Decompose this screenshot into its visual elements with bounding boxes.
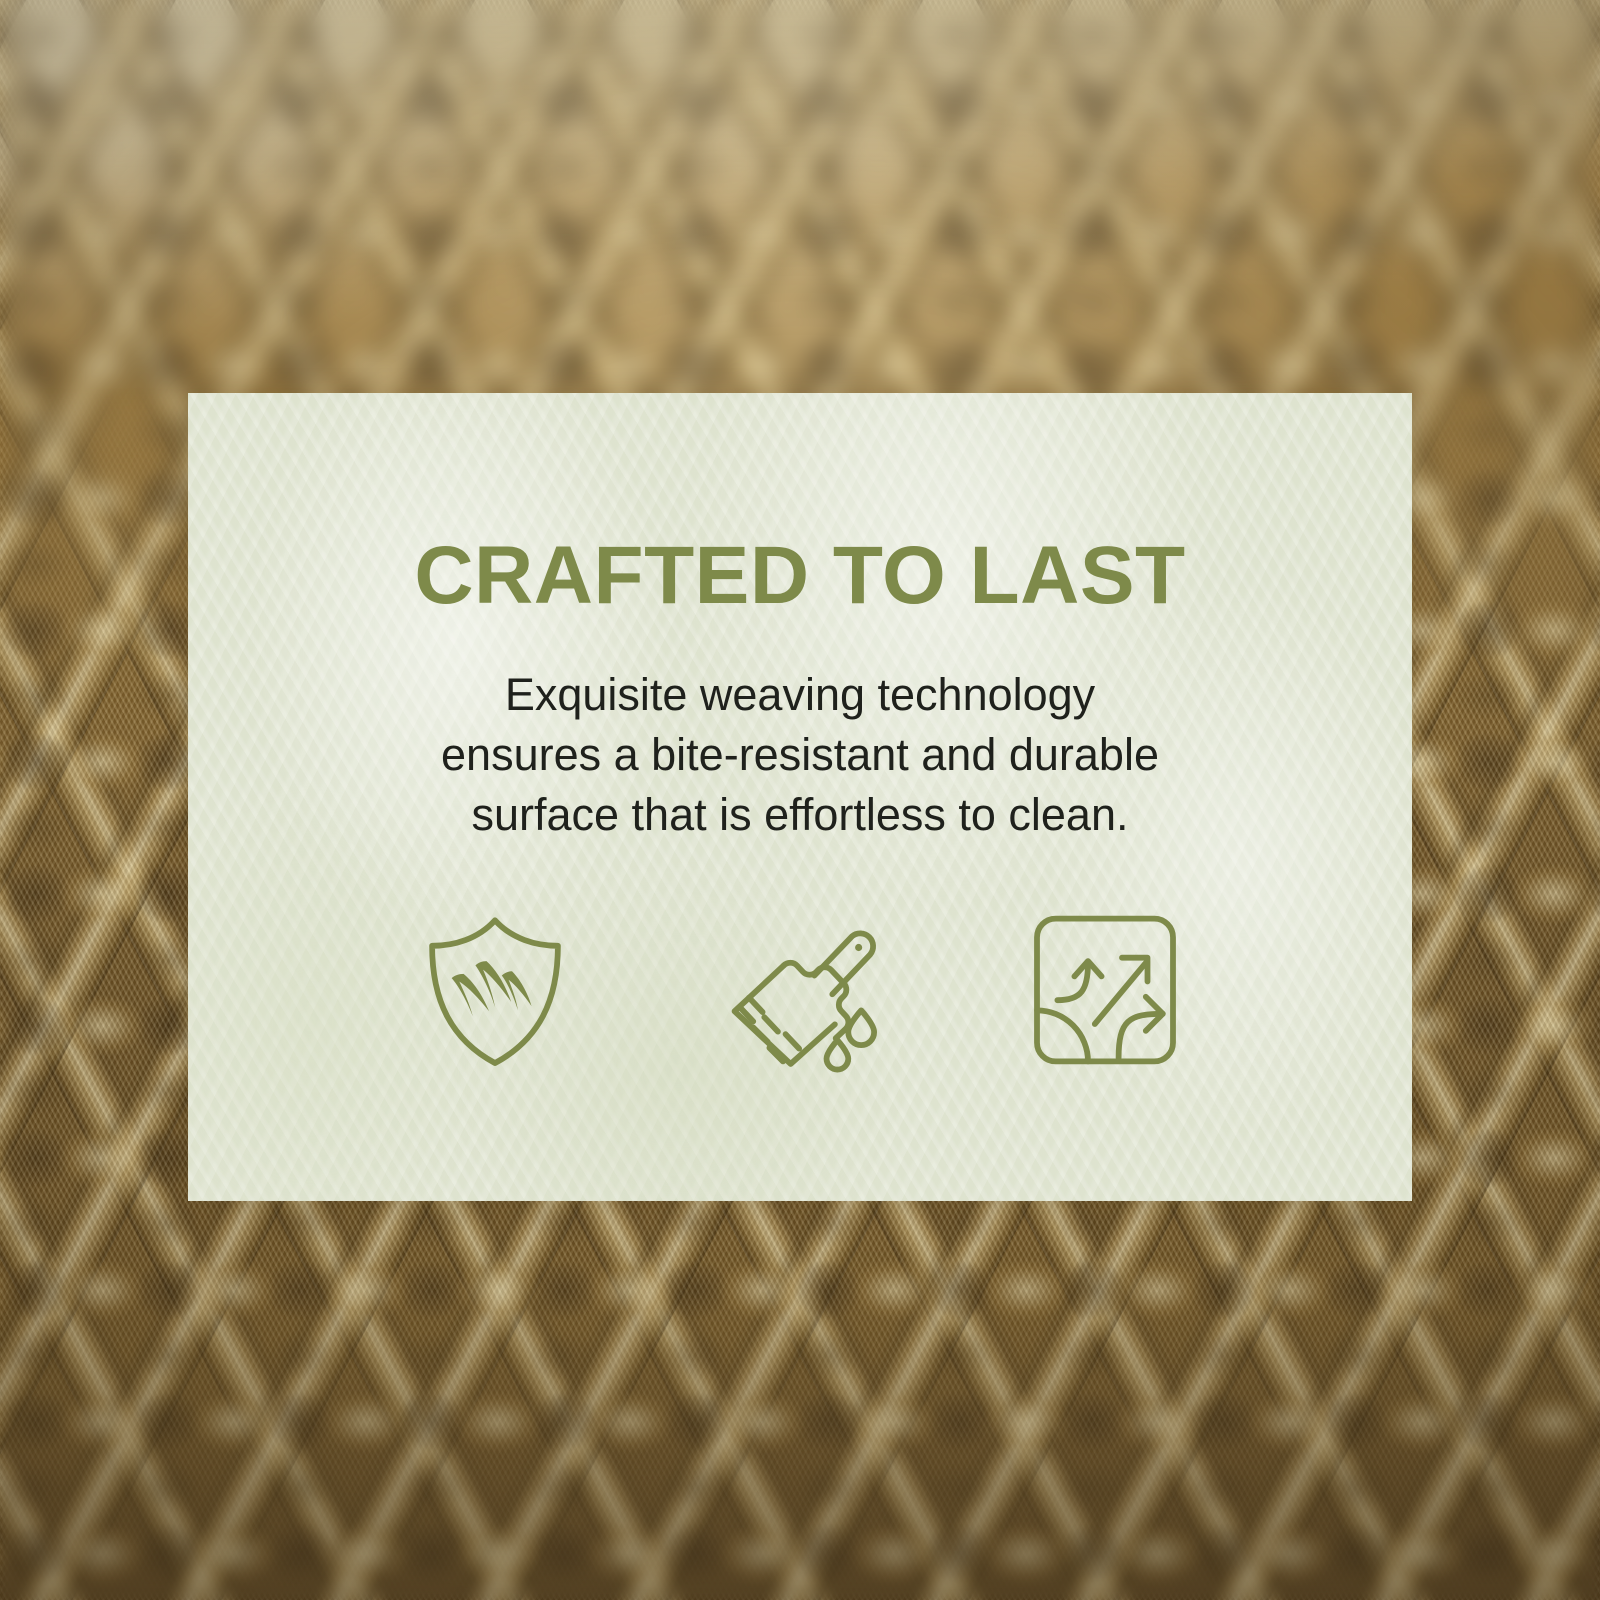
promo-graphic: CRAFTED TO LAST Exquisite weaving techno… bbox=[0, 0, 1600, 1600]
breathable-arrows-icon bbox=[1020, 905, 1190, 1075]
body-copy-line: surface that is effortless to clean. bbox=[360, 785, 1240, 845]
body-copy-line: ensures a bite-resistant and durable bbox=[360, 725, 1240, 785]
body-copy-line: Exquisite weaving technology bbox=[360, 665, 1240, 725]
feature-item-breathable bbox=[1020, 905, 1190, 1075]
brush-water-drops-icon bbox=[715, 905, 885, 1075]
page-title: CRAFTED TO LAST bbox=[414, 535, 1185, 617]
feature-icon-row bbox=[410, 905, 1190, 1075]
feature-item-easy-clean bbox=[715, 905, 885, 1075]
feature-item-bite-resistant bbox=[410, 905, 580, 1075]
body-copy: Exquisite weaving technology ensures a b… bbox=[360, 665, 1240, 845]
message-card: CRAFTED TO LAST Exquisite weaving techno… bbox=[188, 393, 1412, 1201]
shield-claw-icon bbox=[410, 905, 580, 1075]
